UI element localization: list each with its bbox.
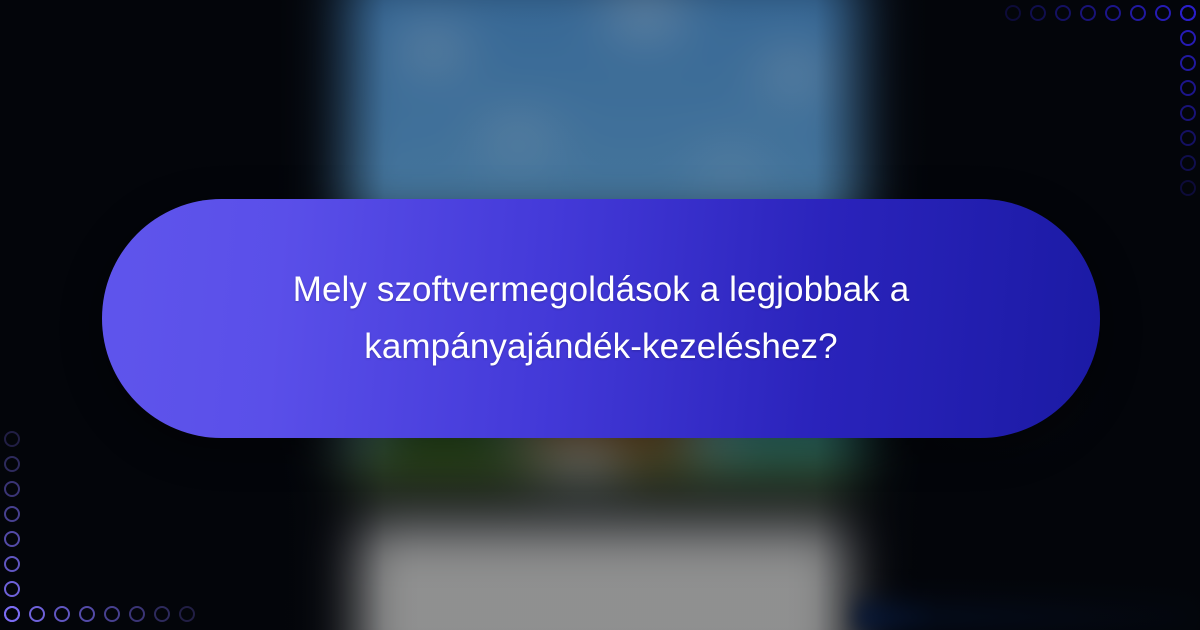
decorative-dot (4, 431, 20, 447)
decorative-dot (129, 606, 145, 622)
decorative-dot (1180, 180, 1196, 196)
decorative-dot (1180, 30, 1196, 46)
question-card[interactable]: Mely szoftvermegoldások a legjobbak a ka… (102, 199, 1100, 438)
decorative-dot (1180, 80, 1196, 96)
decorative-dot (1105, 5, 1121, 21)
decorative-dot (179, 606, 195, 622)
decorative-dot (4, 506, 20, 522)
decorative-dot (1030, 5, 1046, 21)
decorative-dot (1180, 155, 1196, 171)
decorative-dot (4, 456, 20, 472)
question-text: Mely szoftvermegoldások a legjobbak a ka… (251, 262, 951, 375)
decorative-dot (4, 531, 20, 547)
decorative-dot (29, 606, 45, 622)
decorative-dot (154, 606, 170, 622)
decorative-dot (1180, 105, 1196, 121)
decorative-dot (4, 581, 20, 597)
decorative-dot (1130, 5, 1146, 21)
decorative-dot (1055, 5, 1071, 21)
decorative-dot (1155, 5, 1171, 21)
decorative-dot (104, 606, 120, 622)
poster-canvas: Mely szoftvermegoldások a legjobbak a ka… (0, 0, 1200, 630)
decorative-dot (1080, 5, 1096, 21)
decorative-dot (4, 481, 20, 497)
decorative-dot (79, 606, 95, 622)
decorative-dot (4, 556, 20, 572)
decorative-dot (1180, 55, 1196, 71)
decorative-dot (1180, 130, 1196, 146)
decorative-dot (54, 606, 70, 622)
decorative-dot (1180, 5, 1196, 21)
decorative-dot (1005, 5, 1021, 21)
decorative-dot (4, 606, 20, 622)
